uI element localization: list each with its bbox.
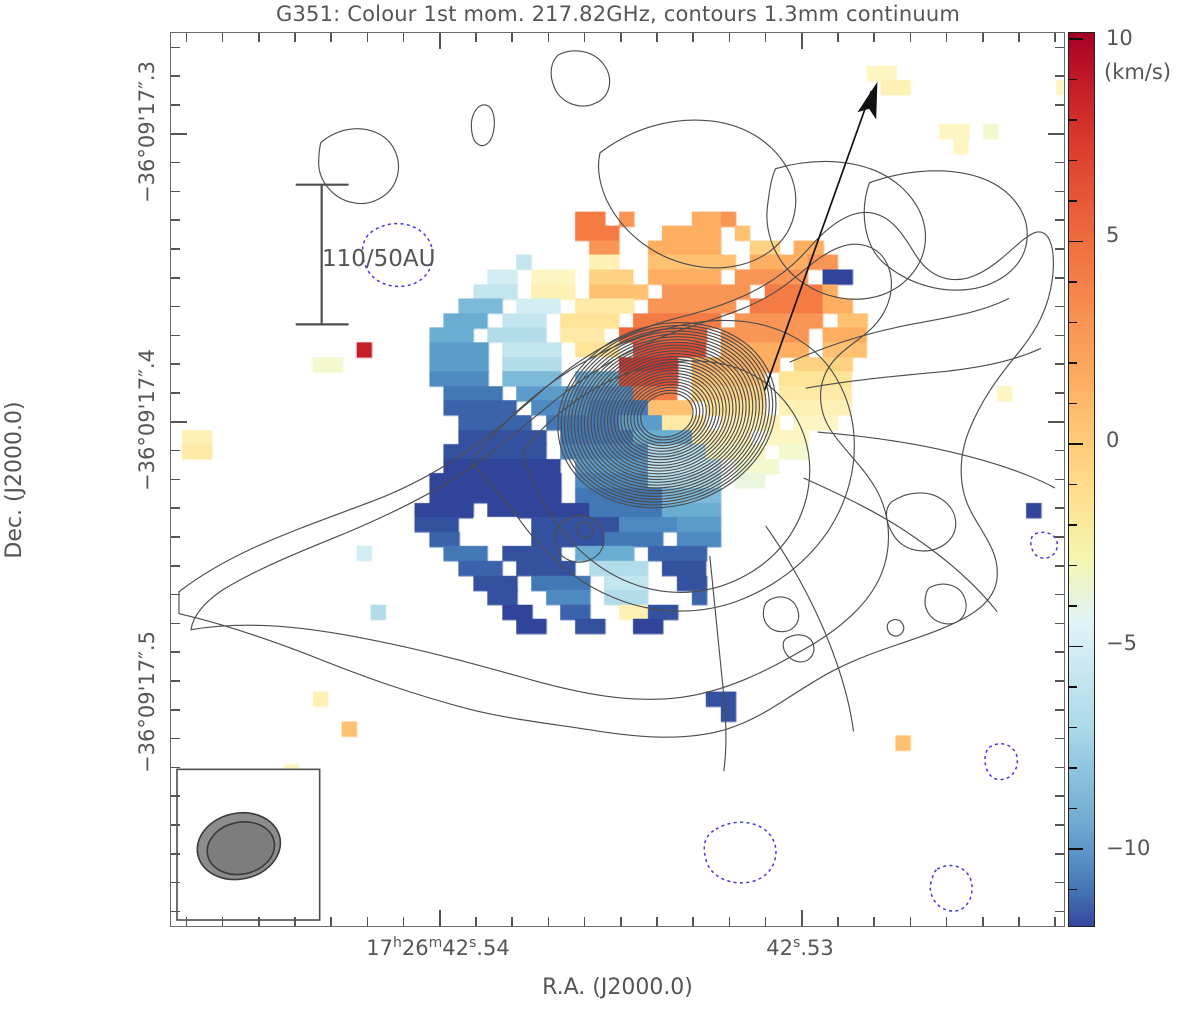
colorbar[interactable] [1068, 32, 1095, 927]
colorbar-tick [1068, 605, 1077, 607]
axis-tick [171, 853, 180, 855]
axis-tick [1055, 392, 1064, 394]
axis-tick [1055, 191, 1064, 193]
axis-tick [294, 917, 296, 926]
axis-tick [1018, 917, 1020, 926]
annotation-overlay [171, 33, 1064, 926]
axis-tick [171, 104, 180, 106]
axis-tick [171, 882, 180, 884]
colorbar-tick [1068, 79, 1077, 81]
axis-tick [258, 33, 260, 42]
beam-box [177, 769, 320, 920]
colorbar-unit-label: (km/s) [1104, 60, 1171, 84]
axis-tick [330, 33, 332, 42]
colorbar-tick [1068, 727, 1077, 729]
axis-tick [171, 191, 180, 193]
axis-tick [692, 917, 694, 926]
axis-tick [1055, 767, 1064, 769]
axis-tick [946, 917, 948, 926]
x-axis-label: R.A. (J2000.0) [170, 975, 1065, 1000]
plot-area [170, 32, 1065, 927]
axis-tick [1054, 917, 1056, 926]
axis-tick [1055, 75, 1064, 77]
axis-tick [620, 33, 622, 42]
axis-tick [801, 33, 803, 49]
axis-tick [1055, 709, 1064, 711]
axis-tick [1055, 335, 1064, 337]
axis-tick [330, 917, 332, 926]
figure-title: G351: Colour 1st mom. 217.82GHz, contour… [170, 2, 1066, 26]
axis-tick [1048, 133, 1064, 135]
colorbar-tick [1068, 322, 1077, 324]
axis-tick [171, 219, 180, 221]
axis-tick [171, 392, 180, 394]
axis-tick [258, 917, 260, 926]
axis-tick [171, 133, 187, 135]
outflow-arrow-icon [765, 85, 877, 390]
colorbar-tick [1068, 200, 1077, 202]
axis-tick [765, 917, 767, 926]
axis-tick [584, 33, 586, 42]
axis-tick [511, 33, 513, 42]
colorbar-tick [1068, 443, 1083, 445]
axis-tick [171, 795, 180, 797]
colorbar-tick [1068, 686, 1077, 688]
axis-tick [656, 33, 658, 42]
colorbar-tick [1068, 403, 1077, 405]
astronomy-figure: G351: Colour 1st mom. 217.82GHz, contour… [0, 0, 1200, 1014]
axis-tick [171, 767, 180, 769]
axis-tick [1055, 565, 1064, 567]
colorbar-tick [1068, 38, 1083, 40]
y-axis-label: Dec. (J2000.0) [2, 401, 27, 558]
axis-tick [475, 917, 477, 926]
axis-tick [729, 33, 731, 42]
axis-tick [1055, 795, 1064, 797]
axis-tick [946, 33, 948, 42]
axis-tick [475, 33, 477, 42]
axis-tick [222, 33, 224, 42]
axis-tick [1055, 536, 1064, 538]
axis-tick [1055, 479, 1064, 481]
x-tick-label: 42s.53 [766, 935, 833, 960]
colorbar-tick [1068, 119, 1077, 121]
axis-tick [171, 479, 180, 481]
axis-tick [729, 917, 731, 926]
axis-tick [171, 335, 180, 337]
axis-tick [171, 709, 180, 711]
axis-tick [171, 306, 180, 308]
axis-tick [186, 917, 188, 926]
axis-tick [171, 277, 180, 279]
colorbar-tick [1068, 484, 1077, 486]
axis-tick [367, 33, 369, 42]
colorbar-tick-label: 5 [1106, 223, 1119, 247]
axis-tick [171, 421, 187, 423]
axis-tick [171, 680, 180, 682]
axis-tick [1055, 680, 1064, 682]
axis-tick [171, 911, 180, 913]
axis-tick [982, 33, 984, 42]
axis-tick [403, 33, 405, 42]
axis-tick [403, 917, 405, 926]
axis-tick [171, 75, 180, 77]
axis-tick [1055, 363, 1064, 365]
colorbar-tick [1068, 848, 1083, 850]
scalebar-label: 110/50AU [322, 246, 435, 272]
axis-tick [367, 917, 369, 926]
colorbar-tick [1068, 362, 1077, 364]
axis-tick [171, 248, 180, 250]
axis-tick [1055, 623, 1064, 625]
axis-tick [1055, 911, 1064, 913]
axis-tick [1055, 277, 1064, 279]
axis-tick [1055, 248, 1064, 250]
colorbar-tick-label: 10 [1106, 26, 1133, 50]
axis-tick [801, 910, 803, 926]
axis-tick [873, 33, 875, 42]
axis-tick [1055, 824, 1064, 826]
axis-tick [1055, 162, 1064, 164]
axis-tick [1055, 306, 1064, 308]
axis-tick [171, 363, 180, 365]
axis-tick [1054, 33, 1056, 42]
axis-tick [171, 536, 180, 538]
axis-tick [692, 33, 694, 42]
colorbar-tick [1068, 160, 1077, 162]
axis-tick [1055, 882, 1064, 884]
colorbar-tick [1068, 767, 1077, 769]
axis-tick [1055, 219, 1064, 221]
y-tick-label: −36°09'17″.5 [135, 631, 159, 773]
axis-tick [765, 33, 767, 42]
colorbar-tick-label: −10 [1106, 836, 1150, 860]
axis-tick [548, 917, 550, 926]
axis-tick [1055, 507, 1064, 509]
x-tick-label: 17h26m42s.54 [366, 935, 509, 960]
axis-tick [584, 917, 586, 926]
axis-tick [171, 507, 180, 509]
y-tick-label: −36°09'17″.3 [135, 61, 159, 203]
axis-tick [873, 917, 875, 926]
axis-tick [982, 917, 984, 926]
axis-tick [837, 917, 839, 926]
axis-tick [1055, 738, 1064, 740]
colorbar-tick-label: −5 [1106, 631, 1137, 655]
colorbar-tick [1068, 808, 1077, 810]
axis-tick [171, 824, 180, 826]
axis-tick [837, 33, 839, 42]
axis-tick [171, 623, 180, 625]
colorbar-tick [1068, 241, 1083, 243]
axis-tick [656, 917, 658, 926]
axis-tick [171, 565, 180, 567]
axis-tick [1018, 33, 1020, 42]
colorbar-tick [1068, 646, 1083, 648]
colorbar-tick [1068, 281, 1077, 283]
y-tick-label: −36°09'17″.4 [135, 349, 159, 491]
axis-tick [910, 917, 912, 926]
axis-tick [548, 33, 550, 42]
axis-tick [1048, 421, 1064, 423]
axis-tick [910, 33, 912, 42]
colorbar-tick [1068, 524, 1077, 526]
axis-tick [294, 33, 296, 42]
axis-tick [186, 33, 188, 42]
axis-tick [620, 917, 622, 926]
axis-tick [171, 450, 180, 452]
axis-tick [1055, 47, 1064, 49]
axis-tick [222, 917, 224, 926]
axis-tick [511, 917, 513, 926]
axis-tick [171, 738, 180, 740]
axis-tick [171, 651, 180, 653]
axis-tick [171, 47, 180, 49]
axis-tick [439, 910, 441, 926]
axis-tick [1055, 651, 1064, 653]
axis-tick [439, 33, 441, 49]
colorbar-tick [1068, 565, 1077, 567]
axis-tick [1055, 104, 1064, 106]
axis-tick [1055, 853, 1064, 855]
axis-tick [171, 162, 180, 164]
axis-tick [1055, 450, 1064, 452]
colorbar-tick [1068, 889, 1077, 891]
colorbar-tick-label: 0 [1106, 428, 1119, 452]
axis-tick [1055, 594, 1064, 596]
axis-tick [171, 594, 180, 596]
